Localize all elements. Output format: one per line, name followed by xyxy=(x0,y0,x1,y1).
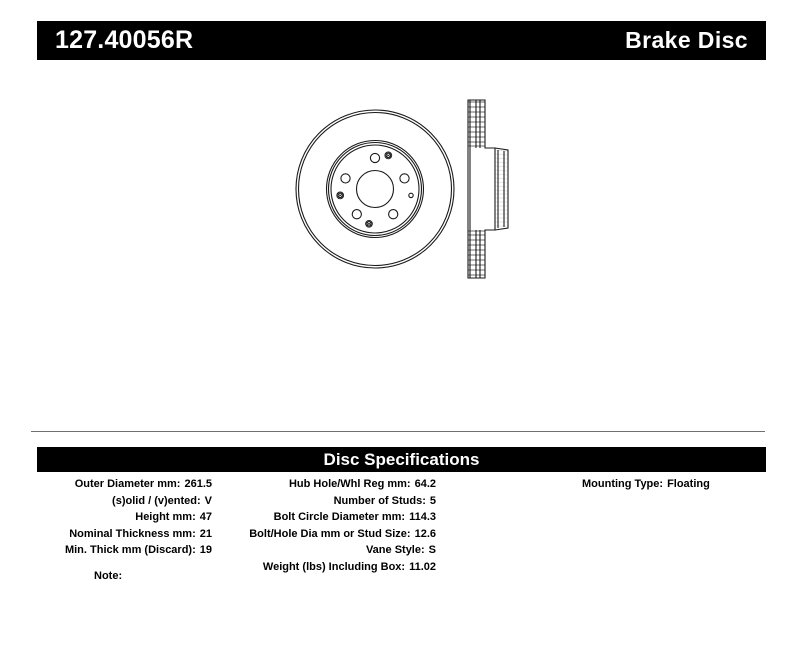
brake-rotor-face-view xyxy=(296,110,454,268)
spec-value: 64.2 xyxy=(411,476,436,493)
spec-value: V xyxy=(201,493,212,510)
part-number-label: 127.40056R xyxy=(55,28,193,53)
spec-row: Weight (lbs) Including Box: 11.02 xyxy=(212,559,436,576)
spec-label: Height mm: xyxy=(135,509,196,526)
spec-row: Height mm: 47 xyxy=(0,509,212,526)
spec-label: Hub Hole/Whl Reg mm: xyxy=(289,476,411,493)
spec-label: Bolt Circle Diameter mm: xyxy=(274,509,405,526)
section-hatching xyxy=(468,102,508,275)
spec-row: Number of Studs: 5 xyxy=(212,493,436,510)
spec-value: Floating xyxy=(663,476,710,493)
note-label: Note: xyxy=(94,570,122,582)
spec-header-title: Disc Specifications xyxy=(324,451,480,468)
spec-label: Outer Diameter mm: xyxy=(75,476,181,493)
spec-row: Bolt/Hole Dia mm or Stud Size: 12.6 xyxy=(212,526,436,543)
spec-row: Min. Thick mm (Discard): 19 xyxy=(0,542,212,559)
spec-column-right: Mounting Type: Floating xyxy=(436,476,800,493)
note-row: Note: xyxy=(94,570,127,582)
spec-label: Min. Thick mm (Discard): xyxy=(65,542,196,559)
threaded-holes xyxy=(337,152,392,227)
threaded-hole-hatching xyxy=(337,154,391,226)
spec-value: 114.3 xyxy=(405,509,436,526)
spec-row: Mounting Type: Floating xyxy=(436,476,800,493)
spec-value: 47 xyxy=(196,509,212,526)
spec-label: Weight (lbs) Including Box: xyxy=(263,559,405,576)
note-value xyxy=(122,570,127,582)
spec-value: 12.6 xyxy=(411,526,436,543)
spec-row: Hub Hole/Whl Reg mm: 64.2 xyxy=(212,476,436,493)
spec-header-bar: Disc Specifications xyxy=(37,447,766,472)
spec-value: S xyxy=(425,542,436,559)
spec-row: (s)olid / (v)ented: V xyxy=(0,493,212,510)
spec-row: Nominal Thickness mm: 21 xyxy=(0,526,212,543)
spec-value: 21 xyxy=(196,526,212,543)
spec-row: Outer Diameter mm: 261.5 xyxy=(0,476,212,493)
spec-column-left: Outer Diameter mm: 261.5 (s)olid / (v)en… xyxy=(0,476,212,559)
spec-label: Mounting Type: xyxy=(582,476,663,493)
spec-value: 261.5 xyxy=(180,476,212,493)
spec-column-middle: Hub Hole/Whl Reg mm: 64.2 Number of Stud… xyxy=(212,476,436,575)
spec-label: Bolt/Hole Dia mm or Stud Size: xyxy=(249,526,410,543)
product-type-label: Brake Disc xyxy=(625,29,748,52)
spec-label: Number of Studs: xyxy=(334,493,426,510)
spec-row: Bolt Circle Diameter mm: 114.3 xyxy=(212,509,436,526)
header-bar: 127.40056R Brake Disc xyxy=(37,21,766,60)
spec-value: 5 xyxy=(426,493,436,510)
spec-label: (s)olid / (v)ented: xyxy=(112,493,201,510)
spec-section-divider xyxy=(31,431,765,432)
spec-value: 11.02 xyxy=(405,559,436,576)
spec-value: 19 xyxy=(196,542,212,559)
brake-rotor-technical-drawing xyxy=(280,90,540,320)
spec-row: Vane Style: S xyxy=(212,542,436,559)
spec-label: Nominal Thickness mm: xyxy=(69,526,196,543)
product-drawing-area xyxy=(0,70,800,415)
spec-label: Vane Style: xyxy=(366,542,425,559)
